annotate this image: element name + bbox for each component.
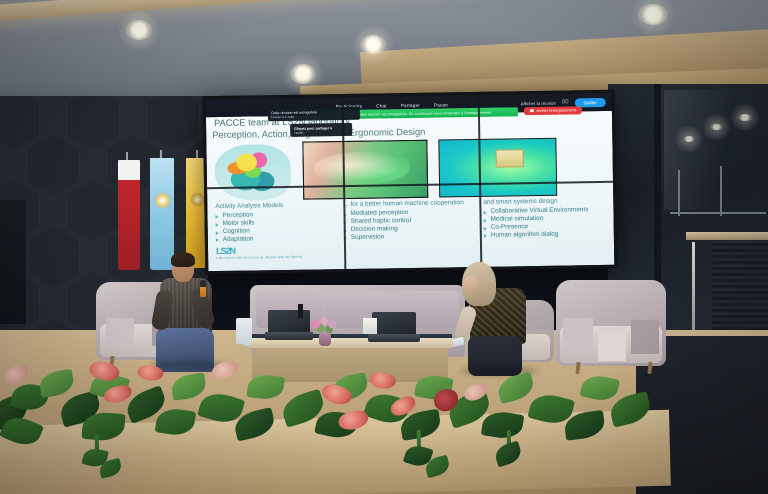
armchair-patchwork-square — [106, 318, 135, 346]
slide-column-3: and smart systems design Collaborative V… — [483, 197, 614, 240]
vase-pot — [319, 334, 331, 346]
reflected-ceiling-light — [683, 136, 695, 142]
armchair-patchwork-square — [563, 318, 594, 351]
ceiling-spotlight — [126, 20, 152, 40]
balcony-railing-post — [720, 166, 722, 216]
plant-leaf — [170, 373, 207, 401]
flower-vase — [308, 316, 342, 346]
plant-leaf — [246, 373, 285, 401]
plant-leaf — [580, 372, 620, 403]
column-bullet-list: Mediated perception Shared haptic contro… — [343, 208, 473, 241]
stop-recording-button[interactable]: Arrêter l'enregistrement — [524, 106, 582, 115]
vase-flowers — [308, 316, 342, 336]
man-hair — [171, 252, 195, 267]
bullet-item: Adaptation — [216, 234, 328, 244]
column-bullet-list: Collaborative Virtual Environments Medic… — [483, 206, 613, 239]
plant-leaf — [481, 409, 525, 441]
conference-room-photo: PACCE team at LS2N laboratory Perception… — [0, 0, 768, 494]
laptop-right[interactable] — [372, 312, 416, 342]
toolbar-show-meeting-label[interactable]: Afficher la réunion — [521, 100, 556, 106]
foreground-plant-row — [0, 349, 647, 451]
brain-anatomy-illustration-icon — [214, 144, 291, 201]
plant-leaf — [608, 391, 653, 427]
recording-notice-popup: Cette réunion est enregistrée Fermer à 1… — [268, 107, 360, 122]
louvre-panel — [712, 240, 768, 334]
stop-recording-label: Arrêter l'enregistrement — [536, 108, 576, 113]
tooltip-subtitle: l'audio — [294, 129, 348, 134]
participants-count-icon: 00 — [562, 99, 569, 105]
slide-image-row — [210, 137, 613, 201]
hanging-cord — [692, 242, 695, 338]
recording-consent-text: Cette réunion est enregistrée. En contin… — [358, 110, 493, 116]
recording-notice-subtitle: Fermer à 1 suite — [271, 114, 357, 119]
toolbar-item-pause[interactable]: Pause — [434, 102, 448, 107]
slide-column-1: Activity Analysis Models Perception Moto… — [215, 201, 328, 259]
video-wall-screen: PACCE team at LS2N laboratory Perception… — [206, 93, 615, 271]
smart-head-wireframe-image — [438, 138, 557, 198]
toolbar-item-share[interactable]: Partager — [401, 102, 420, 107]
column-heading: ... for a better human machine cooperati… — [343, 199, 473, 208]
presentation-slide: PACCE team at LS2N laboratory Perception… — [206, 111, 614, 271]
slide-column-2: ... for a better human machine cooperati… — [343, 199, 474, 242]
bullet-item: Human algorithm dialog — [484, 230, 614, 240]
flag-emblem-icon — [154, 192, 171, 209]
plant-leaf — [495, 372, 536, 405]
microphone-icon — [200, 280, 206, 297]
laptop-left[interactable] — [268, 310, 310, 340]
video-wall-display[interactable]: PACCE team at LS2N laboratory Perception… — [203, 90, 618, 274]
plant-flower — [136, 363, 164, 383]
ceiling-spotlight — [290, 64, 316, 84]
laptop-screen — [268, 310, 310, 332]
column-bullet-list: Perception Motor skills Cognition Adapta… — [215, 211, 327, 244]
column-heading: Activity Analysis Models — [215, 201, 327, 210]
human-robot-handshake-image — [302, 140, 428, 200]
side-table-item — [236, 318, 252, 344]
glass-ledge — [686, 232, 768, 240]
wall-speaker-column — [0, 200, 26, 324]
balcony-railing-post — [678, 170, 680, 216]
microphone-stand — [298, 304, 303, 318]
share-audio-tooltip: Cliquez pour partager à l'audio — [290, 123, 352, 137]
plant-flower — [1, 361, 31, 387]
slide-columns: Activity Analysis Models Perception Moto… — [211, 197, 614, 265]
balcony-railing — [670, 212, 766, 214]
plant-flower — [368, 370, 397, 391]
woman-face — [464, 276, 477, 293]
laptop-keyboard — [368, 334, 419, 342]
ceiling-spotlight — [360, 35, 386, 54]
laptop-screen — [372, 312, 416, 334]
tissue-box — [363, 318, 377, 334]
flag-light-blue-emblem — [150, 158, 174, 270]
reflected-ceiling-light — [710, 124, 723, 130]
ceiling-cove-light — [0, 0, 499, 22]
bullet-item: Supervision — [344, 232, 474, 242]
reflected-ceiling-light — [738, 114, 752, 121]
ceiling-spotlight — [638, 4, 668, 25]
flag-red-white — [118, 160, 140, 270]
column-heading: and smart systems design — [483, 197, 613, 206]
laptop-keyboard — [265, 332, 314, 340]
plant-leaf — [38, 369, 75, 398]
flag-emblem-icon — [190, 192, 205, 207]
toolbar-item-chat[interactable]: Chat — [376, 103, 387, 108]
plant-flower — [210, 358, 241, 382]
plant-leaf — [155, 406, 197, 438]
record-dot-icon — [530, 109, 534, 113]
